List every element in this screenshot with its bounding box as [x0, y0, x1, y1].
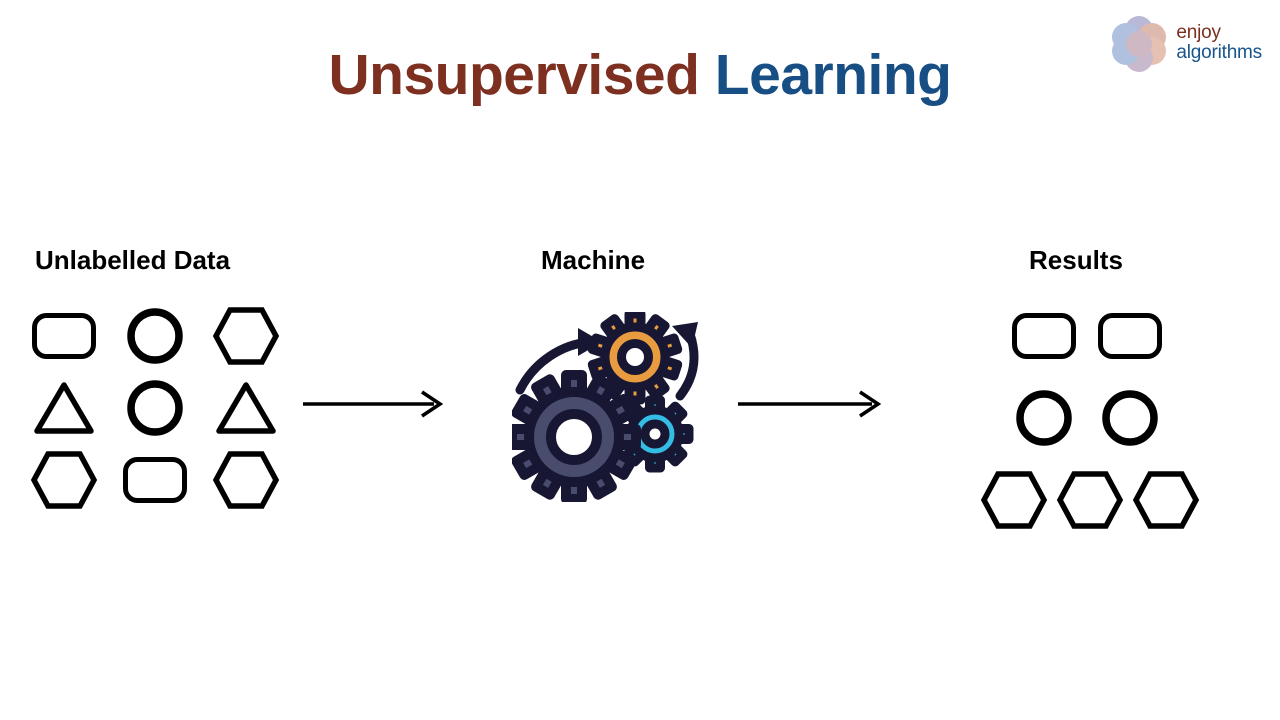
heading-machine: Machine: [541, 245, 645, 276]
page-title: Unsupervised Learning: [0, 42, 1280, 108]
arrow-input-to-machine: [300, 388, 445, 425]
shape-row: [970, 295, 1200, 377]
page-title-part2: Learning: [715, 43, 952, 107]
shape-triangle: [210, 375, 282, 441]
shape-circle: [119, 303, 191, 369]
shape-hexagon: [980, 461, 1048, 539]
shape-rounded-rect: [1008, 297, 1080, 375]
three-gears-icon: [512, 312, 702, 507]
shape-row: [970, 377, 1200, 459]
heading-results: Results: [1029, 245, 1123, 276]
shape-hexagon: [1132, 461, 1200, 539]
brand-word-top: enjoy: [1176, 23, 1262, 43]
unlabelled-data-shape-grid: [28, 300, 288, 516]
shape-hexagon: [1056, 461, 1124, 539]
page-title-part1: Unsupervised: [328, 43, 699, 107]
shape-circle: [119, 375, 191, 441]
shape-hexagon: [28, 447, 100, 513]
shape-row: [970, 459, 1200, 541]
shape-hexagon: [210, 447, 282, 513]
shape-rounded-rect: [28, 303, 100, 369]
shape-rounded-rect: [1094, 297, 1166, 375]
shape-rounded-rect: [119, 447, 191, 513]
shape-circle: [1008, 379, 1080, 457]
shape-row: [28, 372, 288, 444]
heading-unlabelled-data: Unlabelled Data: [35, 245, 230, 276]
shape-hexagon: [210, 303, 282, 369]
shape-triangle: [28, 375, 100, 441]
results-shape-grid: [970, 295, 1200, 541]
curved-arrow-right: [672, 322, 698, 396]
shape-row: [28, 444, 288, 516]
shape-row: [28, 300, 288, 372]
shape-circle: [1094, 379, 1166, 457]
arrow-machine-to-results: [735, 388, 885, 425]
